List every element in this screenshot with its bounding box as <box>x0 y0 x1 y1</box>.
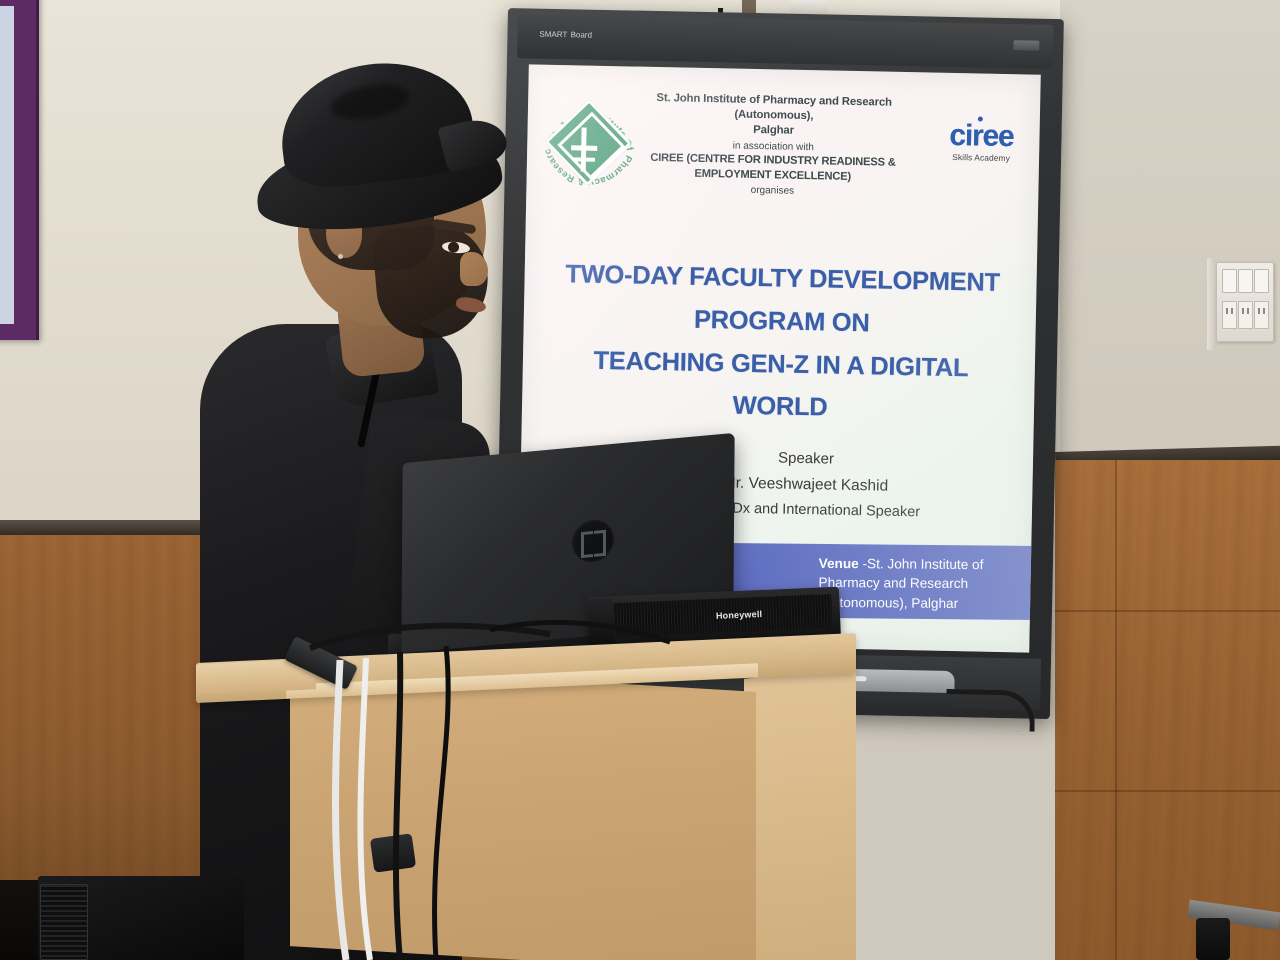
ciree-wordmark: ciree <box>949 121 1014 152</box>
presenter-nose <box>460 252 488 286</box>
slide-header: St. John Institute of Pharmacy and Resea… <box>622 90 924 199</box>
title-line-3: TEACHING GEN-Z IN A DIGITAL WORLD <box>558 339 1004 434</box>
rail-foot <box>1196 918 1230 960</box>
wall-switch-plate[interactable] <box>1216 262 1274 342</box>
switch-conduit <box>1207 258 1215 350</box>
cable-bundle <box>250 600 890 960</box>
smart-brand-text: SMART <box>539 30 567 40</box>
wall-picture-mat <box>0 6 14 324</box>
ciree-tagline: Skills Academy <box>935 152 1027 164</box>
amplifier-panel <box>40 884 88 960</box>
emblem-bar-2 <box>573 157 595 161</box>
wainscot-right <box>1055 460 1280 960</box>
venue-label: Venue <box>819 556 859 571</box>
venue-line-1: St. John Institute of <box>867 556 983 572</box>
lecture-hall-photo: SMART Board St. John Institute Of <box>0 0 1280 960</box>
smart-brand-label: SMART Board <box>539 29 592 41</box>
board-indicator <box>1013 40 1039 51</box>
presenter-hat <box>256 58 506 230</box>
smart-brand-suffix: Board <box>571 30 593 39</box>
title-line-1: TWO-DAY FACULTY DEVELOPMENT <box>560 253 1005 305</box>
venue-line-2: Pharmacy and Research <box>818 573 1040 594</box>
slide-title: TWO-DAY FACULTY DEVELOPMENT PROGRAM ON T… <box>558 253 1005 433</box>
emblem-bar <box>571 145 597 151</box>
presenter-earring <box>338 254 343 259</box>
ciree-logo: ciree Skills Academy <box>935 121 1028 164</box>
upper-wall-right <box>1060 0 1280 470</box>
ciree-dot <box>978 116 983 121</box>
